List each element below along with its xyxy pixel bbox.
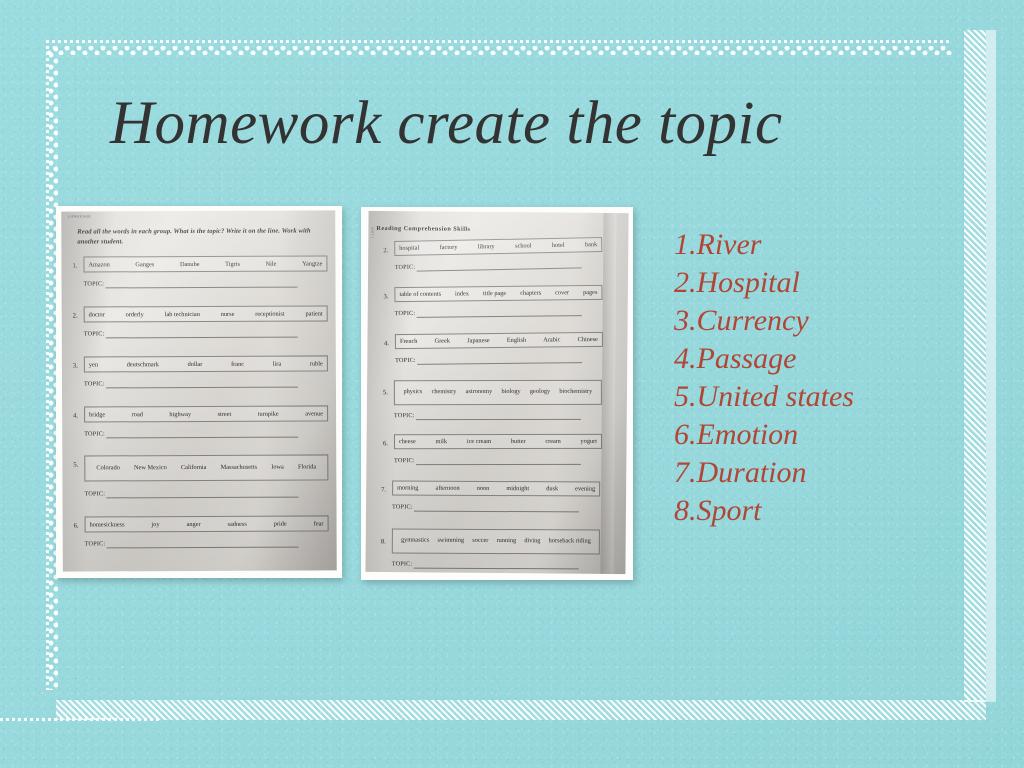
word: Greek: [435, 338, 450, 345]
word: Arabic: [543, 336, 560, 343]
topic-answer-line: [106, 437, 298, 439]
word: dusk: [546, 485, 558, 492]
word: index: [455, 290, 469, 297]
topic-answer-line: [414, 511, 579, 513]
worksheet-right-item: 7. morning afternoon noon midnight dusk …: [369, 211, 629, 212]
worksheet-photo-left: LANGUAGE Read all the words in each grou…: [56, 206, 342, 578]
answer-item: 1.River: [674, 226, 964, 264]
word: avenue: [305, 410, 323, 417]
item-words: gymnastics swimming soccer running divin…: [392, 528, 600, 554]
word: Massachusetts: [221, 462, 257, 473]
topic-answer-line: [414, 568, 579, 570]
word: Nile: [266, 260, 277, 267]
word: astronomy: [466, 387, 493, 398]
word: sadness: [228, 520, 247, 527]
answer-item: 6.Emotion: [674, 416, 964, 454]
worksheet-photo-right: UNIT 1 Reading Comprehension Skills 2. h…: [361, 207, 633, 580]
word: anger: [187, 520, 201, 527]
word: Iowa: [271, 462, 284, 473]
word: nurse: [221, 310, 235, 317]
word: biochemistry: [559, 387, 592, 398]
word: homesickness: [90, 521, 125, 528]
worksheet-left-item: 3. yen deutschmark dollar franc lira rub…: [61, 210, 335, 211]
topic-label: TOPIC:: [84, 490, 105, 497]
word: cream: [545, 438, 560, 445]
topic-answer-line: [417, 362, 582, 365]
word: orderly: [126, 311, 144, 318]
word: street: [218, 410, 232, 417]
topic-answer-line: [106, 387, 298, 389]
item-number: 5.: [73, 462, 78, 469]
answer-item: 3.Currency: [674, 302, 964, 340]
item-number: 1.: [72, 263, 77, 270]
word: school: [515, 242, 532, 249]
word: gymnastics: [401, 536, 429, 547]
topic-label: TOPIC:: [395, 264, 416, 271]
worksheet-right-header: Reading Comprehension Skills: [376, 225, 470, 233]
word: road: [132, 411, 143, 418]
word: pages: [583, 289, 597, 296]
word: English: [507, 337, 526, 344]
word: noon: [477, 485, 490, 492]
word: midnight: [506, 485, 529, 492]
topic-label: TOPIC:: [392, 503, 413, 510]
item-words: bridge road highway street turnpike aven…: [84, 405, 328, 422]
item-number: 5.: [383, 389, 388, 396]
word: bank: [585, 241, 597, 248]
worksheet-right-item: 8. gymnastics swimming soccer running di…: [369, 211, 629, 212]
worksheet-left-instructions: Read all the words in each group. What i…: [77, 226, 321, 248]
word: library: [478, 243, 495, 250]
topic-answer-line: [416, 464, 581, 465]
word: Yangtze: [302, 260, 322, 267]
item-number: 7.: [381, 486, 386, 493]
topic-label: TOPIC:: [392, 560, 413, 567]
worksheet-left-page: LANGUAGE Read all the words in each grou…: [61, 210, 337, 571]
word: milk: [436, 438, 448, 445]
word: deutschmark: [127, 361, 159, 368]
word: table of contents: [399, 291, 441, 298]
worksheet-right-item: 2. hospital factory library school hotel…: [369, 211, 629, 215]
item-words: cheese milk ice cream butter cream yogur…: [394, 434, 602, 449]
word: Colorado: [96, 463, 119, 474]
word: pride: [274, 520, 287, 527]
word: hotel: [552, 242, 565, 249]
item-words: yen deutschmark dollar franc lira ruble: [84, 355, 328, 372]
worksheet-right-side-text: UNIT 1: [370, 227, 374, 239]
page-title: Homework create the topic: [110, 92, 783, 156]
word: dollar: [188, 360, 203, 367]
item-words: French Greek Japanese English Arabic Chi…: [395, 332, 603, 349]
word: morning: [397, 484, 418, 491]
item-words: physics chemistry astronomy biology geol…: [394, 380, 602, 405]
word: Ganges: [135, 261, 154, 268]
topic-label: TOPIC:: [84, 430, 105, 437]
answer-item: 5.United states: [674, 378, 964, 416]
item-words: Colorado New Mexico California Massachus…: [84, 454, 328, 481]
word: horseback riding: [549, 536, 591, 547]
word: chemistry: [432, 387, 457, 398]
answer-item: 8.Sport: [674, 492, 964, 530]
item-words: morning afternoon noon midnight dusk eve…: [392, 480, 600, 496]
word: ice cream: [467, 438, 491, 445]
answer-item: 4.Passage: [674, 340, 964, 378]
item-number: 8.: [381, 538, 386, 545]
word: Amazon: [88, 261, 109, 268]
topic-answer-line: [417, 267, 582, 271]
word: factory: [440, 244, 458, 251]
item-number: 3.: [73, 363, 78, 370]
word: bridge: [89, 411, 105, 418]
topic-label: TOPIC:: [395, 310, 416, 317]
frame-bottom-hatched-band: [56, 700, 986, 720]
worksheet-right-item: 4. French Greek Japanese English Arabic …: [369, 211, 629, 213]
topic-answer-line: [107, 547, 299, 549]
item-words: table of contents index title page chapt…: [394, 285, 602, 302]
word: Florida: [298, 462, 316, 473]
topic-label: TOPIC:: [395, 357, 416, 364]
item-words: Amazon Ganges Danube Tigris Nile Yangtze: [83, 255, 327, 272]
topic-answer-line: [417, 315, 582, 318]
worksheet-left-item: 6. homesickness joy anger sadness pride …: [61, 210, 335, 211]
word: turnpike: [258, 410, 279, 417]
frame-top-dotted-line: [46, 40, 952, 43]
word: evening: [575, 485, 595, 492]
word: lab technician: [165, 310, 200, 317]
word: running: [497, 536, 517, 547]
word: cover: [555, 289, 569, 296]
topic-label: TOPIC:: [84, 380, 105, 387]
worksheet-left-item: 4. bridge road highway street turnpike a…: [61, 210, 335, 211]
worksheet-right-page: UNIT 1 Reading Comprehension Skills 2. h…: [365, 211, 628, 574]
word: receptionist: [255, 310, 284, 317]
answer-item: 2.Hospital: [674, 264, 964, 302]
worksheet-right-item: 3. table of contents index title page ch…: [369, 211, 629, 213]
topic-label: TOPIC:: [394, 412, 415, 419]
item-number: 3.: [383, 293, 388, 300]
item-number: 2.: [73, 313, 78, 320]
word: New Mexico: [134, 463, 167, 474]
word: joy: [152, 521, 160, 528]
topic-answer-line: [106, 337, 298, 339]
item-number: 2.: [383, 247, 388, 254]
word: ruble: [310, 360, 323, 367]
item-words: homesickness joy anger sadness pride fea…: [85, 515, 329, 532]
word: Tigris: [225, 260, 240, 267]
topic-label: TOPIC:: [84, 280, 105, 287]
word: lira: [273, 360, 281, 367]
topic-answer-line: [106, 497, 298, 499]
word: Japanese: [467, 337, 489, 344]
item-number: 6.: [383, 440, 388, 447]
word: physics: [403, 387, 422, 398]
word: afternoon: [436, 485, 460, 492]
word: yogurt: [581, 438, 597, 445]
word: butter: [511, 438, 526, 445]
word: patient: [305, 310, 322, 317]
page-gutter-shadow: [600, 213, 616, 574]
item-number: 4.: [384, 340, 389, 347]
word: biology: [501, 387, 520, 398]
word: swimming: [437, 536, 464, 547]
word: Chinese: [578, 336, 598, 343]
word: soccer: [472, 536, 488, 547]
word: fear: [314, 520, 324, 527]
worksheet-left-item: 2. doctor orderly lab technician nurse r…: [61, 210, 335, 211]
word: Danube: [180, 260, 200, 267]
item-number: 6.: [74, 523, 79, 530]
topic-label: TOPIC:: [85, 540, 106, 547]
topic-label: TOPIC:: [394, 457, 415, 464]
word: highway: [169, 411, 191, 418]
frame-right-white-band: [986, 30, 996, 702]
topic-answer-line: [416, 419, 581, 420]
word: diving: [524, 536, 540, 547]
worksheet-left-item: 5. Colorado New Mexico California Massac…: [61, 210, 335, 211]
word: hospital: [399, 245, 419, 252]
answers-list: 1.River 2.Hospital 3.Currency 4.Passage …: [674, 226, 964, 530]
item-words: doctor orderly lab technician nurse rece…: [84, 305, 328, 322]
answer-item: 7.Duration: [674, 454, 964, 492]
worksheet-left-page-mark: LANGUAGE: [68, 214, 91, 218]
frame-right-hatched-band: [964, 30, 986, 702]
word: California: [181, 463, 207, 474]
topic-answer-line: [106, 287, 298, 289]
word: doctor: [89, 311, 105, 318]
word: French: [400, 338, 418, 345]
word: chapters: [520, 290, 541, 297]
word: geology: [530, 387, 550, 398]
topic-label: TOPIC:: [84, 330, 105, 337]
item-words: hospital factory library school hotel ba…: [394, 237, 602, 256]
item-number: 4.: [73, 413, 78, 420]
word: title page: [483, 290, 506, 297]
word: franc: [231, 360, 244, 367]
word: yen: [89, 361, 98, 368]
word: cheese: [399, 438, 416, 445]
worksheet-left-item: 1. Amazon Ganges Danube Tigris Nile Yang…: [61, 210, 335, 211]
frame-top-wavy-line: [46, 46, 952, 55]
